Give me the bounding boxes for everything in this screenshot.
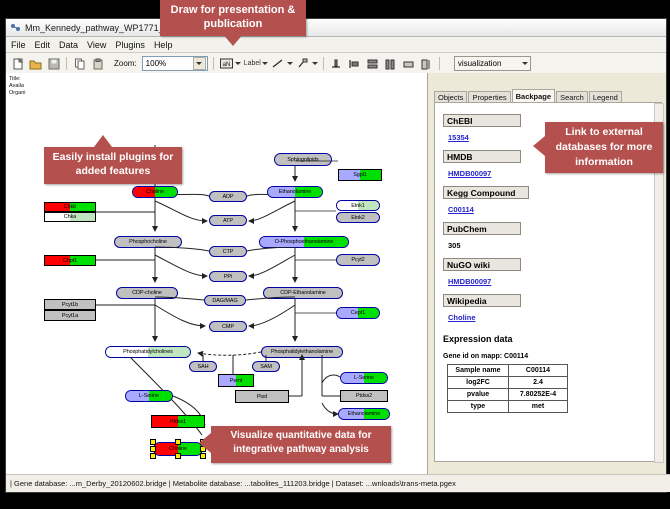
expression-data-heading: Expression data [443,334,661,344]
window-titlebar: Mm_Kennedy_pathway_WP1771_45176.gpml [6,19,666,37]
node-label: SAM [260,364,272,370]
anchor-icon[interactable] [296,56,311,71]
callout-visualize-text: Visualize quantitative data for integrat… [231,430,372,455]
db-link-kegg[interactable]: C00114 [448,205,474,214]
expr-val-type: met [509,401,568,413]
chevron-down-icon[interactable] [193,57,206,70]
node-label: Ethanolamine [279,189,311,195]
node-label: L-Serine [354,375,374,381]
selection-handle[interactable] [150,439,156,445]
node-label: ATP [223,218,233,224]
node-label: Pcyt1b [62,302,78,308]
tab-backpage[interactable]: Backpage [512,89,555,103]
callout-plugins: Easily install plugins for added feature… [44,147,182,184]
callout-draw-arrow-icon [222,33,244,46]
db-header-nugo: NuGO wiki [443,258,521,271]
expr-key-sample-name: Sample name [448,365,509,377]
chevron-down-icon[interactable] [235,62,241,65]
datanode-icon[interactable]: aN [219,56,234,71]
node-label: DAG/MAG [212,298,237,304]
node-label: O-Phosphoethanolamine [275,239,334,245]
align-left-icon[interactable] [347,56,362,71]
save-file-icon[interactable] [46,56,61,71]
menu-edit[interactable]: Edit [35,40,51,50]
screenshot-root: Mm_Kennedy_pathway_WP1771_45176.gpml Fil… [0,0,670,509]
selection-handle[interactable] [200,453,206,459]
node-label: Etnk2 [351,215,365,221]
db-link-hmdb[interactable]: HMDB00097 [448,169,491,178]
selection-handle[interactable] [150,453,156,459]
callout-draw-text: Draw for presentation & publication [171,4,296,30]
node-label: Ethanolamine [348,411,380,417]
db-header-chebi: ChEBI [443,114,521,127]
node-label: Ptdss1 [170,419,186,425]
status-bar-text: | Gene database: ...m_Derby_20120602.bri… [10,479,456,488]
pathvisio-window: Mm_Kennedy_pathway_WP1771_45176.gpml Fil… [5,18,667,493]
datanode-dropdown[interactable]: aN [219,56,241,71]
metabolite-phosphatidylcholines[interactable]: Phosphatidylcholines [105,346,191,358]
db-link-chebi[interactable]: 15354 [448,133,469,142]
metabolite-l-serine[interactable]: L-Serine [125,390,173,402]
paste-icon[interactable] [90,56,105,71]
node-label: CTP [223,249,234,255]
node-label: Choline [169,446,187,452]
expr-val-sample-name: C00114 [509,365,568,377]
visualization-combobox[interactable]: visualization [454,56,531,71]
pathway-canvas[interactable]: Title: Availa Organi [6,73,428,474]
callout-draw: Draw for presentation & publication [160,0,306,36]
toolbar-separator [213,57,214,70]
node-label: Sgpl1 [353,172,367,178]
menu-view[interactable]: View [87,40,106,50]
main-toolbar: Zoom: 100% aN Label [6,53,666,75]
menu-plugins[interactable]: Plugins [115,40,145,50]
node-label: Etnk1 [351,203,365,209]
anchor-dropdown[interactable] [296,56,318,71]
node-label: Phosphatidylethanolamine [271,349,333,355]
toolbar-separator [323,57,324,70]
metabolite-choline[interactable]: Choline [132,186,178,198]
node-label: PPi [224,274,232,280]
selection-handle[interactable] [175,453,181,459]
expr-key-pvalue: pvalue [448,389,509,401]
metabolite-l-serine[interactable]: L-Serine [340,372,388,384]
menu-bar: File Edit Data View Plugins Help [6,37,666,53]
callout-plugins-text: Easily install plugins for added feature… [53,151,174,177]
callout-plugins-arrow-icon [94,135,112,147]
zoom-label: Zoom: [114,59,137,68]
metabolite-ethanolamine[interactable]: Ethanolamine [338,408,390,420]
metabolite-ethanolamine[interactable]: Ethanolamine [267,186,323,198]
table-row: Sample name C00114 [448,365,568,377]
table-row: type met [448,401,568,413]
expr-key-type: type [448,401,509,413]
menu-help[interactable]: Help [154,40,173,50]
chevron-down-icon[interactable] [262,62,268,65]
selection-handle[interactable] [175,439,181,445]
stack-center-y-icon[interactable] [383,56,398,71]
visualization-combo-wrap: visualization [449,55,531,72]
db-header-hmdb: HMDB [443,150,521,163]
db-header-kegg: Kegg Compound [443,186,529,199]
gene-sgpl1[interactable]: Sgpl1 [338,169,382,181]
new-file-icon[interactable] [10,56,25,71]
menu-data[interactable]: Data [59,40,78,50]
label-dropdown[interactable]: Label [244,60,268,67]
align-top-icon[interactable] [329,56,344,71]
toolbar-separator [66,57,67,70]
db-link-nugo[interactable]: HMDB00097 [448,277,491,286]
node-label: Pisd [257,394,267,400]
metabolite-cept1[interactable]: Cept1 [336,307,380,319]
db-header-pubchem: PubChem [443,222,521,235]
copy-icon[interactable] [72,56,87,71]
node-label: Pemt [230,378,242,384]
callout-links-arrow-icon [533,136,545,156]
node-label: CMP [222,324,234,330]
common-width-icon[interactable] [401,56,416,71]
pathvisio-app-icon [10,22,21,33]
line-dropdown[interactable] [271,56,293,71]
expr-key-log2fc: log2FC [448,377,509,389]
chevron-down-icon[interactable] [522,62,528,65]
gene-chka[interactable]: Chka [44,212,96,222]
expr-val-pvalue: 7.80252E-4 [509,389,568,401]
selection-handle[interactable] [150,446,156,452]
chevron-down-icon[interactable] [287,62,293,65]
gene-chkb[interactable]: Chkb [44,202,96,212]
node-label: Cept1 [351,310,365,316]
node-label: CDP-choline [132,290,162,296]
svg-text:aN: aN [222,62,230,68]
db-value-pubchem: 305 [448,241,461,250]
node-label: L-Serine [139,393,159,399]
menu-file[interactable]: File [11,40,26,50]
metabolite-etnk1[interactable]: Etnk1 [336,200,380,211]
common-height-icon[interactable] [419,56,434,71]
callout-visualize: Visualize quantitative data for integrat… [211,426,391,463]
db-link-wikipedia[interactable]: Choline [448,313,476,322]
label-button-text: Label [244,60,261,67]
open-file-icon[interactable] [28,56,43,71]
stack-center-x-icon[interactable] [365,56,380,71]
gene-pemt[interactable]: Pemt [218,374,254,387]
callout-links-text: Link to external databases for more info… [556,126,653,168]
node-label: SAH [197,364,208,370]
table-row: log2FC 2.4 [448,377,568,389]
node-label: Chpt1 [63,258,77,264]
db-header-wikipedia: Wikipedia [443,294,521,307]
callout-visualize-arrow-icon [199,433,211,453]
gene-id-line: Gene id on mapp: C00114 [443,353,661,360]
node-label: CDP-Ethanolamine [280,290,325,296]
node-label: Ptdss2 [356,393,372,399]
node-label: Pcyt2 [351,257,364,263]
chevron-down-icon[interactable] [312,62,318,65]
node-label: Sphingolipids [287,157,318,163]
callout-links: Link to external databases for more info… [545,122,663,173]
node-label: Phosphatidylcholines [123,349,173,355]
table-row: pvalue 7.80252E-4 [448,389,568,401]
visualization-value: visualization [458,59,502,68]
expr-val-log2fc: 2.4 [509,377,568,389]
node-label: Choline [146,189,164,195]
node-label: Chka [64,214,76,220]
metabolite-o-phosphoethanolamine[interactable]: O-Phosphoethanolamine [259,236,349,248]
node-label: Pcyt1a [62,313,78,319]
toolbar-separator [439,57,440,70]
line-icon[interactable] [271,56,286,71]
node-label: Phosphocholine [129,239,167,245]
zoom-combobox[interactable]: 100% [142,56,208,71]
zoom-value: 100% [146,59,166,68]
gene-chpt1[interactable]: Chpt1 [44,255,96,266]
gene-ptdss1[interactable]: Ptdss1 [151,415,205,428]
expression-table: Sample name C00114 log2FC 2.4 pvalue 7.8… [447,364,568,413]
node-label: Chkb [64,204,76,210]
status-bar: | Gene database: ...m_Derby_20120602.bri… [6,474,670,492]
node-label: ADP [222,194,233,200]
